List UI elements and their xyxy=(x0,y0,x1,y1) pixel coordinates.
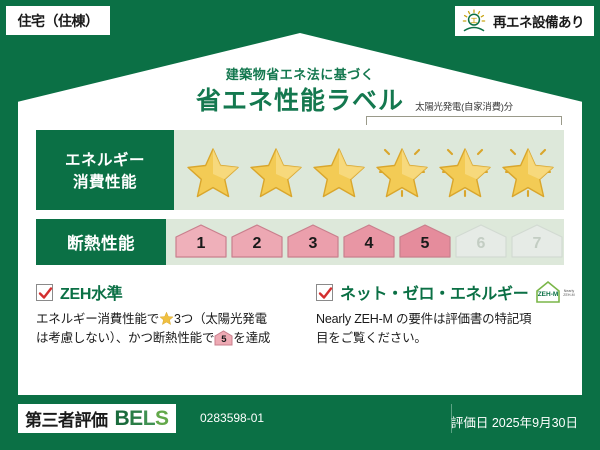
insulation-level-value: 6 xyxy=(454,235,508,253)
insulation-level-value: 3 xyxy=(286,235,340,253)
insulation-level-badge: 6 xyxy=(454,223,508,261)
zeh-desc-part1: エネルギー消費性能で xyxy=(36,312,159,326)
label-footer: 第三者評価 BELS 0283598-01 評価日 2025年9月30日 xyxy=(0,395,600,450)
solar-contribution-bracket xyxy=(366,116,562,125)
sun-solar-icon: 工 xyxy=(461,9,487,33)
nze-description: Nearly ZEH-M の要件は評価書の特記項 目をご覧ください。 xyxy=(316,310,554,349)
insulation-performance-value: 1 2 3 4 5 6 7 xyxy=(166,219,564,265)
svg-text:工: 工 xyxy=(471,16,478,24)
insulation-performance-row: 断熱性能 1 2 3 4 5 6 7 xyxy=(36,219,564,265)
zeh-m-logo-icon: ZEH-M Nearly ZEH-M xyxy=(535,279,581,305)
third-party-label: 第三者評価 xyxy=(25,406,108,431)
star-base xyxy=(308,141,370,199)
energy-performance-label-block: エネルギー 消費性能 xyxy=(36,130,174,210)
svg-text:ZEH-M: ZEH-M xyxy=(538,291,559,298)
insulation-level-badge: 3 xyxy=(286,223,340,261)
insulation-level-value: 2 xyxy=(230,235,284,253)
insulation-label-block: 断熱性能 xyxy=(36,219,166,265)
inline-star-icon xyxy=(159,311,174,326)
bels-logo: BELS xyxy=(115,407,169,431)
energy-star-rating xyxy=(174,141,559,199)
star-solar xyxy=(434,141,496,199)
net-zero-energy-section: ネット・ゼロ・エネルギー ZEH-M Nearly ZEH-M Nearly Z… xyxy=(300,281,564,377)
insulation-level-scale: 1 2 3 4 5 6 7 xyxy=(166,223,564,261)
insulation-level-value: 4 xyxy=(342,235,396,253)
nze-title: ネット・ゼロ・エネルギー xyxy=(340,280,528,304)
energy-label-line1: エネルギー xyxy=(65,148,145,170)
zeh-check-line: ZEH水準 xyxy=(36,281,290,303)
star-base xyxy=(245,141,307,199)
zeh-title: ZEH水準 xyxy=(60,280,123,304)
evaluation-date-value: 2025年9月30日 xyxy=(492,416,578,430)
renewable-equipment-badge: 工 再エネ設備あり xyxy=(455,6,594,36)
zeh-description: エネルギー消費性能で3つ（太陽光発電 は考慮しない）、かつ断熱性能で5を達成 xyxy=(36,310,290,349)
inline-house-badge-icon: 5 xyxy=(214,330,233,346)
insulation-level-badge: 2 xyxy=(230,223,284,261)
zeh-checkbox[interactable] xyxy=(36,284,53,301)
star-base xyxy=(182,141,244,199)
insulation-level-badge: 4 xyxy=(342,223,396,261)
nze-desc-line2: 目をご覧ください。 xyxy=(316,331,427,345)
zeh-desc-part3: を達成 xyxy=(233,331,270,345)
energy-performance-row: エネルギー 消費性能 太陽光発電(自家消費)分 xyxy=(36,130,564,210)
nze-checkbox[interactable] xyxy=(316,284,333,301)
inline-house-badge-value: 5 xyxy=(214,333,233,348)
energy-label-line2: 消費性能 xyxy=(73,170,137,192)
insulation-label-text: 断熱性能 xyxy=(67,230,135,254)
zeh-standard-section: ZEH水準 エネルギー消費性能で3つ（太陽光発電 は考慮しない）、かつ断熱性能で… xyxy=(36,281,300,377)
bels-letter: L xyxy=(143,407,155,430)
insulation-level-value: 1 xyxy=(174,235,228,253)
bels-letter: E xyxy=(129,407,143,430)
evaluation-date: 評価日 2025年9月30日 xyxy=(451,412,578,431)
certification-columns: ZEH水準 エネルギー消費性能で3つ（太陽光発電 は考慮しない）、かつ断熱性能で… xyxy=(36,281,564,377)
certificate-number: 0283598-01 xyxy=(200,411,264,425)
energy-performance-value: 太陽光発電(自家消費)分 xyxy=(174,130,564,210)
zeh-desc-part2: は考慮しない）、かつ断熱性能で xyxy=(36,331,214,345)
star-solar xyxy=(371,141,433,199)
nze-check-line: ネット・ゼロ・エネルギー ZEH-M Nearly ZEH-M xyxy=(316,281,554,303)
insulation-level-value: 5 xyxy=(398,235,452,253)
insulation-level-badge: 5 xyxy=(398,223,452,261)
insulation-level-badge: 1 xyxy=(174,223,228,261)
bels-evaluation-box: 第三者評価 BELS xyxy=(18,404,176,433)
renewable-badge-label: 再エネ設備あり xyxy=(493,11,584,31)
bels-letter: B xyxy=(115,407,130,430)
bels-letter: S xyxy=(155,407,169,430)
star-solar xyxy=(497,141,559,199)
nze-desc-line1: Nearly ZEH-M の要件は評価書の特記項 xyxy=(316,312,531,326)
zeh-desc-stars: 3つ（太陽光発電 xyxy=(174,312,267,326)
building-type-tag: 住宅（住棟） xyxy=(6,6,110,35)
insulation-level-badge: 7 xyxy=(510,223,564,261)
evaluation-date-label: 評価日 xyxy=(451,416,489,430)
building-type-text: 住宅（住棟） xyxy=(18,11,99,31)
energy-performance-label: 住宅（住棟） 工 再エネ設備あり 建築物省エネ法に基 xyxy=(0,0,600,450)
svg-text:ZEH-M: ZEH-M xyxy=(564,293,575,297)
solar-contribution-note: 太陽光発電(自家消費)分 xyxy=(366,99,562,113)
label-panel: 建築物省エネ法に基づく 省エネ性能ラベル エネルギー 消費性能 太陽光発電(自家… xyxy=(18,33,582,395)
insulation-level-value: 7 xyxy=(510,235,564,253)
